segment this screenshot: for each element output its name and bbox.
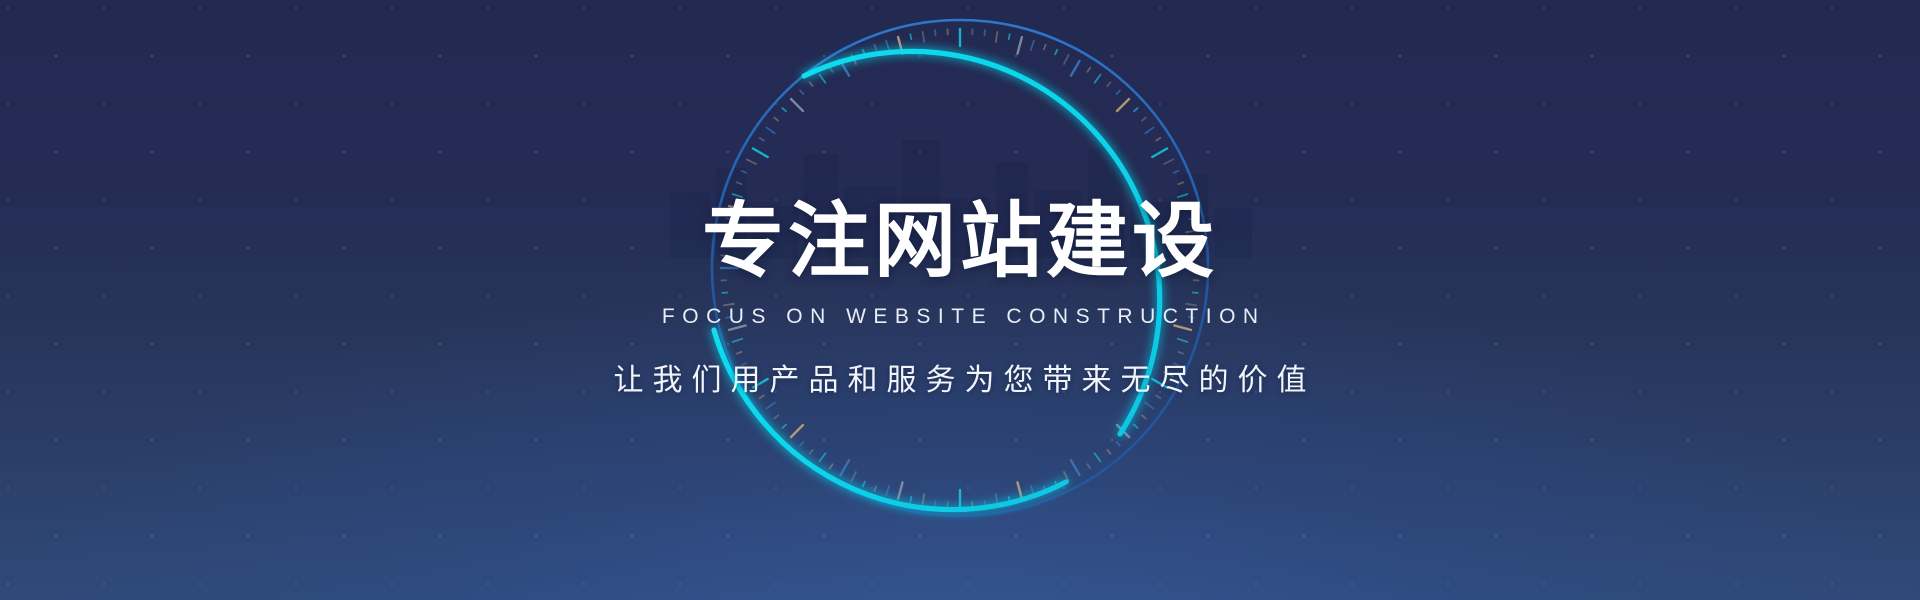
banner-text-block: 专注网站建设 FOCUS ON WEBSITE CONSTRUCTION 让我们… xyxy=(0,0,1920,600)
tagline-chinese: 让我们用产品和服务为您带来无尽的价值 xyxy=(605,355,1316,399)
hero-banner: 专注网站建设 FOCUS ON WEBSITE CONSTRUCTION 让我们… xyxy=(0,0,1920,600)
page-title: 专注网站建设 xyxy=(702,201,1218,283)
subtitle-english: FOCUS ON WEBSITE CONSTRUCTION xyxy=(654,305,1265,329)
